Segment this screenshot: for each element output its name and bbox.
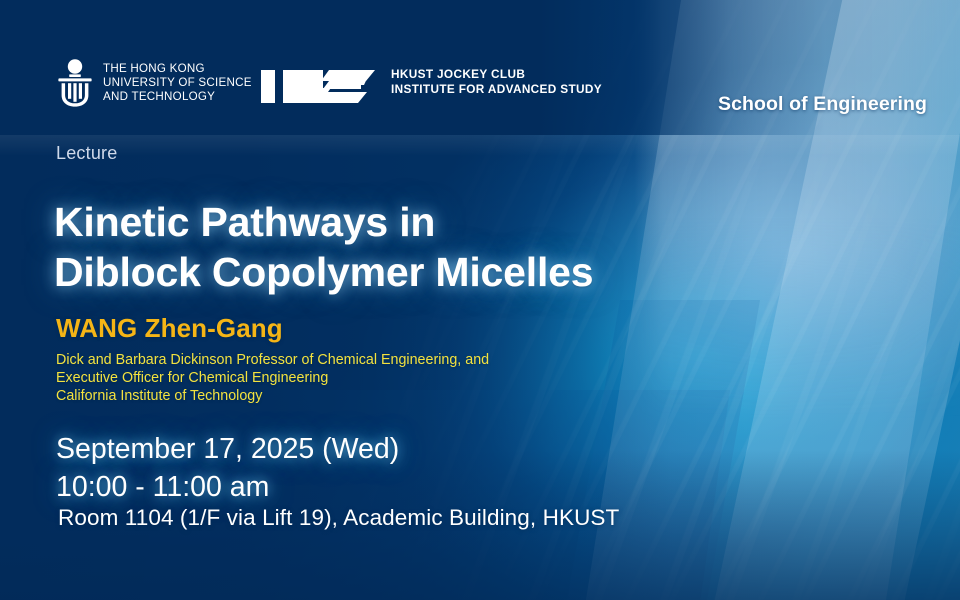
category-band-highlight <box>0 135 960 170</box>
ias-institute-name: HKUST JOCKEY CLUB INSTITUTE FOR ADVANCED… <box>391 67 602 97</box>
event-datetime: September 17, 2025 (Wed) 10:00 - 11:00 a… <box>56 430 399 506</box>
speaker-name: WANG Zhen-Gang <box>56 313 283 344</box>
ias-wordmark-icon <box>259 58 377 105</box>
hkust-emblem-icon <box>56 57 94 109</box>
school-of-engineering-label: School of Engineering <box>718 93 927 116</box>
hkust-university-logo: THE HONG KONG UNIVERSITY OF SCIENCE AND … <box>56 57 252 109</box>
ias-institute-logo: HKUST JOCKEY CLUB INSTITUTE FOR ADVANCED… <box>259 58 602 105</box>
poster-header: THE HONG KONG UNIVERSITY OF SCIENCE AND … <box>0 0 960 135</box>
category-band <box>0 135 960 170</box>
hkust-university-name: THE HONG KONG UNIVERSITY OF SCIENCE AND … <box>103 62 252 105</box>
lecture-poster: THE HONG KONG UNIVERSITY OF SCIENCE AND … <box>0 0 960 600</box>
category-label: Lecture <box>56 143 117 164</box>
event-venue: Room 1104 (1/F via Lift 19), Academic Bu… <box>58 505 619 531</box>
event-title: Kinetic Pathways in Diblock Copolymer Mi… <box>54 197 734 297</box>
speaker-affiliation: Dick and Barbara Dickinson Professor of … <box>56 352 489 405</box>
